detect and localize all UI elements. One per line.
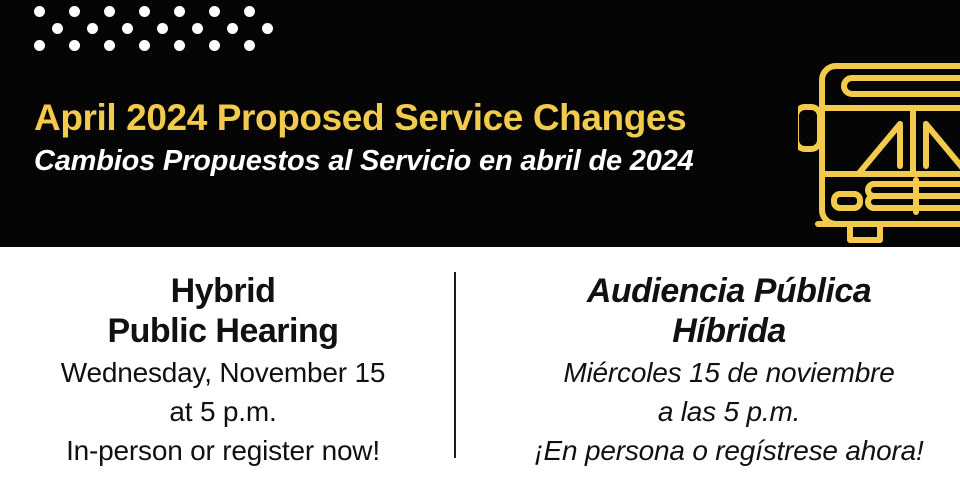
decoration-dot xyxy=(157,23,168,34)
hearing-time-spanish: a las 5 p.m. xyxy=(514,392,944,431)
hearing-date-english: Wednesday, November 15 xyxy=(8,353,438,392)
decoration-dot xyxy=(104,6,115,17)
decoration-dot xyxy=(87,23,98,34)
decoration-dot xyxy=(34,6,45,17)
decoration-dot xyxy=(262,23,273,34)
decoration-dot xyxy=(69,6,80,17)
body-section: Hybrid Public Hearing Wednesday, Novembe… xyxy=(0,247,960,504)
hearing-title-spanish-line-2: Híbrida xyxy=(514,311,944,351)
hearing-title-spanish: Audiencia Pública Híbrida xyxy=(514,271,944,351)
decoration-dot xyxy=(139,40,150,51)
hearing-time-english: at 5 p.m. xyxy=(8,392,438,431)
decoration-dot xyxy=(244,6,255,17)
hearing-title-english-line-1: Hybrid xyxy=(8,271,438,311)
hearing-details-english: Hybrid Public Hearing Wednesday, Novembe… xyxy=(8,271,438,470)
decoration-dot xyxy=(174,6,185,17)
decoration-dot xyxy=(192,23,203,34)
hearing-title-english-line-2: Public Hearing xyxy=(8,311,438,351)
decoration-dot xyxy=(52,23,63,34)
decoration-dot xyxy=(209,6,220,17)
hearing-title-english: Hybrid Public Hearing xyxy=(8,271,438,351)
decoration-dot xyxy=(69,40,80,51)
column-divider xyxy=(454,272,456,458)
hearing-cta-spanish: ¡En persona o regístrese ahora! xyxy=(514,431,944,470)
decoration-dot xyxy=(34,40,45,51)
hearing-cta-english: In-person or register now! xyxy=(8,431,438,470)
decoration-dot xyxy=(209,40,220,51)
service-changes-poster: April 2024 Proposed Service Changes Camb… xyxy=(0,0,960,504)
decoration-dot xyxy=(104,40,115,51)
bus-front-icon xyxy=(798,32,960,244)
page-title: April 2024 Proposed Service Changes xyxy=(34,96,686,140)
decoration-dot xyxy=(139,6,150,17)
hearing-title-spanish-line-1: Audiencia Pública xyxy=(514,271,944,311)
page-subtitle: Cambios Propuestos al Servicio en abril … xyxy=(34,143,693,179)
hearing-date-spanish: Miércoles 15 de noviembre xyxy=(514,353,944,392)
header-band: April 2024 Proposed Service Changes Camb… xyxy=(0,0,960,247)
decoration-dot xyxy=(122,23,133,34)
decoration-dot xyxy=(174,40,185,51)
decoration-dot xyxy=(244,40,255,51)
dot-grid-decoration xyxy=(34,6,294,54)
hearing-details-spanish: Audiencia Pública Híbrida Miércoles 15 d… xyxy=(514,271,944,470)
decoration-dot xyxy=(227,23,238,34)
